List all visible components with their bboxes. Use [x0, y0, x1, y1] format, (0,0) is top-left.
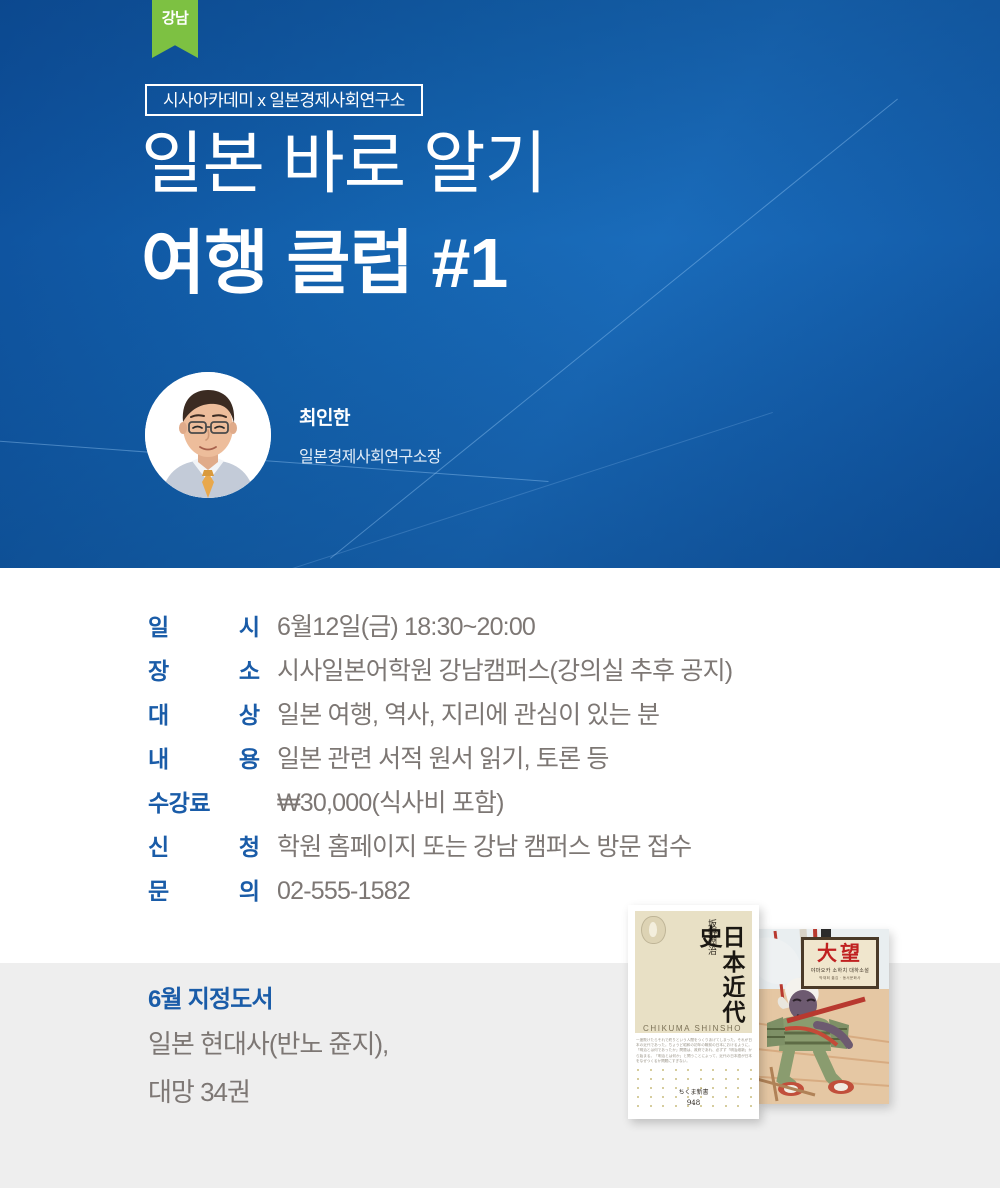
poster-title-line-2: 여행 클럽 #1	[141, 228, 507, 298]
detail-label: 대 상	[148, 704, 260, 727]
book-cover-nihon-kindaishi: 坂野潤治 日本近代史 CHIKUMA SHINSHO 一度敗けたらそれで終りとい…	[628, 905, 759, 1119]
detail-value: 02-555-1582	[277, 879, 410, 904]
book-imprint: ちくま新書	[678, 1089, 708, 1096]
detail-label-char: 의	[239, 880, 260, 903]
detail-row: 신 청 학원 홈페이지 또는 강남 캠퍼스 방문 접수	[148, 827, 691, 868]
event-poster: 강남 시사아카데미 x 일본경제사회연구소 일본 바로 알기 여행 클럽 #1	[0, 0, 1000, 1188]
detail-value: ₩30,000(식사비 포함)	[277, 791, 504, 816]
speaker-role: 일본경제사회연구소장	[299, 450, 441, 466]
detail-value: 일본 관련 서적 원서 읽기, 토론 등	[277, 747, 609, 772]
hero-section: 강남 시사아카데미 x 일본경제사회연구소 일본 바로 알기 여행 클럽 #1	[0, 0, 1000, 568]
detail-label-char: 소	[239, 660, 260, 683]
detail-label: 내 용	[148, 748, 260, 771]
book-blurb: 一度敗けたらそれで終りという人間をつくりあげてしまった。それが日本の近代であった…	[636, 1038, 752, 1064]
detail-row: 장 소 시사일본어학원 강남캠퍼스(강의실 추후 공지)	[148, 651, 732, 692]
detail-label-char: 용	[239, 748, 260, 771]
detail-row: 대 상 일본 여행, 역사, 지리에 관심이 있는 분	[148, 695, 659, 736]
book-cover-panel: 坂野潤治 日本近代史 CHIKUMA SHINSHO	[635, 911, 752, 1033]
detail-label-char: 상	[239, 704, 260, 727]
detail-label-char: 대	[148, 704, 169, 727]
detail-value: 학원 홈페이지 또는 강남 캠퍼스 방문 접수	[277, 835, 691, 860]
poster-title-line-1: 일본 바로 알기	[141, 130, 546, 198]
book-imprint-block: ちくま新書 948	[628, 1088, 759, 1110]
detail-label-char: 장	[148, 660, 169, 683]
designated-book-line-1: 일본 현대사(반노 쥰지),	[148, 1031, 388, 1057]
detail-value: 시사일본어학원 강남캠퍼스(강의실 추후 공지)	[277, 659, 732, 684]
book-number: 948	[628, 1098, 759, 1110]
speaker-portrait-icon	[145, 372, 271, 498]
detail-row: 내 용 일본 관련 서적 원서 읽기, 토론 등	[148, 739, 609, 780]
book-publisher-romaji: CHIKUMA SHINSHO	[643, 1024, 742, 1033]
organizer-label: 시사아카데미 x 일본경제사회연구소	[163, 92, 405, 109]
detail-label-char: 내	[148, 748, 169, 771]
detail-value: 일본 여행, 역사, 지리에 관심이 있는 분	[277, 703, 659, 728]
book-title-plaque: 大望 야마오카 소하치 대하소설 박재희 옮김 · 동서문화사	[801, 937, 879, 989]
detail-label-char: 일	[148, 616, 169, 639]
chikuma-logo-icon	[641, 916, 666, 944]
detail-row: 문 의 02-555-1582	[148, 871, 410, 912]
book-credit-daemang: 박재희 옮김 · 동서문화사	[819, 976, 860, 981]
organizer-box: 시사아카데미 x 일본경제사회연구소	[145, 84, 423, 116]
detail-label: 장 소	[148, 660, 260, 683]
detail-row: 수강료 ₩30,000(식사비 포함)	[148, 783, 504, 824]
campus-ribbon-label: 강남	[162, 11, 189, 26]
details-section: 일 시 6월12일(금) 18:30~20:00 장 소 시사일본어학원 강남캠…	[0, 568, 1000, 963]
detail-row: 일 시 6월12일(금) 18:30~20:00	[148, 607, 535, 648]
detail-label-char: 청	[239, 836, 260, 859]
designated-books-heading: 6월 지정도서	[148, 988, 273, 1012]
designated-book-line-2: 대망 34권	[148, 1079, 250, 1105]
book-title-nihon-kindaishi: 日本近代史	[717, 925, 743, 1033]
detail-label-char: 시	[239, 616, 260, 639]
detail-label: 문 의	[148, 880, 260, 903]
detail-label: 신 청	[148, 836, 260, 859]
detail-label-char: 신	[148, 836, 169, 859]
speaker-avatar	[145, 372, 271, 498]
detail-label-char: 문	[148, 880, 169, 903]
book-subtitle-daemang: 야마오카 소하치 대하소설	[811, 967, 870, 974]
book-cover-daemang: 大望 야마오카 소하치 대하소설 박재희 옮김 · 동서문화사	[757, 929, 889, 1104]
book-title-daemang: 大望	[817, 943, 863, 963]
detail-label: 일 시	[148, 616, 260, 639]
detail-value: 6월12일(금) 18:30~20:00	[277, 615, 535, 640]
speaker-name: 최인한	[299, 409, 350, 428]
detail-label: 수강료	[148, 792, 260, 815]
